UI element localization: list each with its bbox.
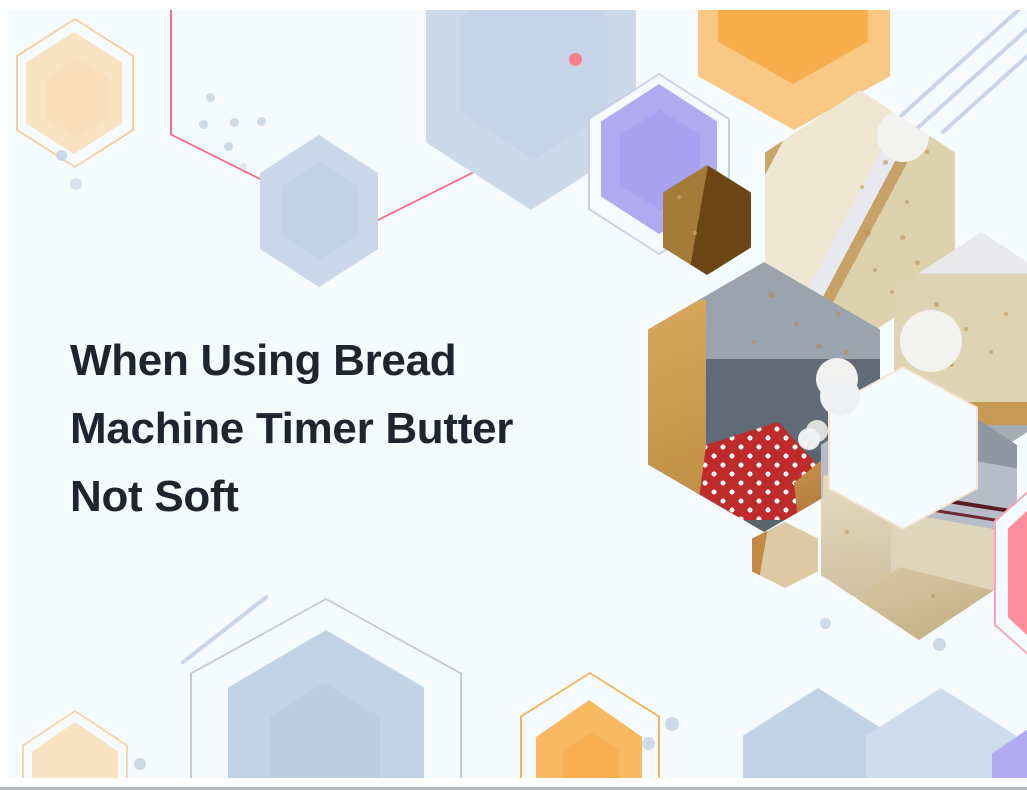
page-title: When Using Bread Machine Timer Butter No… <box>70 327 610 531</box>
page-bottom-rule <box>0 785 1027 790</box>
decorative-dot <box>134 758 146 770</box>
diagonal-accent-line-icon <box>940 10 1027 135</box>
decorative-dot <box>240 163 247 170</box>
decorative-dot <box>56 150 67 161</box>
decorative-dot <box>206 93 215 102</box>
slide-canvas: When Using Bread Machine Timer Butter No… <box>8 10 1027 778</box>
decorative-dot <box>70 178 82 190</box>
collage-tile-small-bread-cube <box>752 522 818 588</box>
white-dot-icon <box>820 376 860 416</box>
decorative-dot <box>224 142 233 151</box>
white-dot-icon <box>798 428 820 450</box>
decorative-dot <box>230 118 239 127</box>
decorative-dot <box>933 638 946 651</box>
decorative-dot <box>257 117 266 126</box>
decorative-dot <box>665 717 679 731</box>
slide-root: When Using Bread Machine Timer Butter No… <box>0 0 1027 790</box>
decorative-dot <box>642 737 655 750</box>
decorative-dot <box>199 120 208 129</box>
decorative-dot <box>820 618 831 629</box>
pink-dot-icon <box>569 53 582 66</box>
